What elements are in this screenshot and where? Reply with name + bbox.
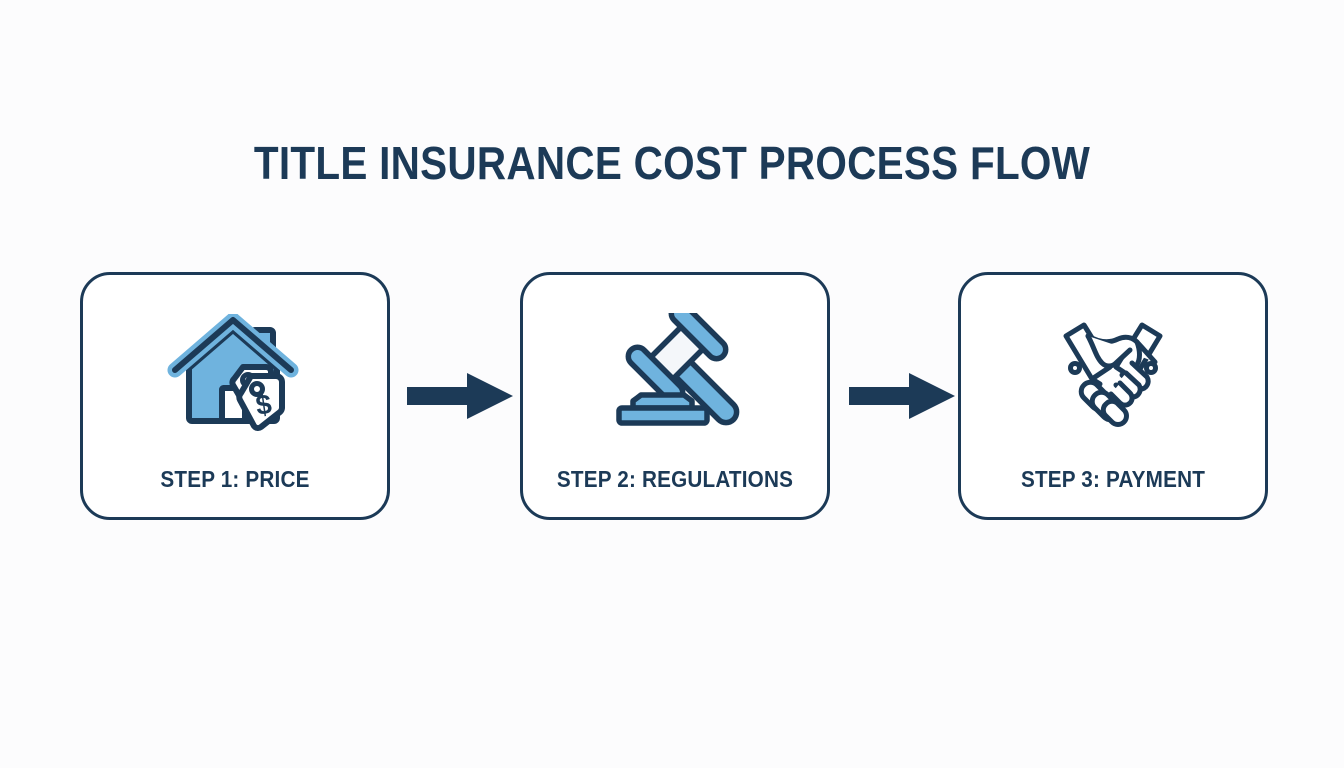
arrow-right-icon [407, 373, 513, 419]
step-card-label: STEP 1: PRICE [98, 465, 372, 493]
step-card-label: STEP 2: REGULATIONS [538, 465, 812, 493]
step-card-price[interactable]: $ STEP 1: PRICE [80, 272, 390, 520]
arrow-right-icon [849, 373, 955, 419]
page-title: TITLE INSURANCE COST PROCESS FLOW [81, 133, 1264, 193]
gavel-icon [600, 309, 750, 437]
handshake-icon [1038, 309, 1188, 437]
step-card-label: STEP 3: PAYMENT [976, 465, 1250, 493]
step-card-payment[interactable]: STEP 3: PAYMENT [958, 272, 1268, 520]
infographic-canvas: TITLE INSURANCE COST PROCESS FLOW [0, 0, 1344, 768]
step-card-regulations[interactable]: STEP 2: REGULATIONS [520, 272, 830, 520]
process-flow-row: $ STEP 1: PRICE [0, 272, 1344, 522]
house-price-tag-icon: $ [160, 309, 310, 437]
